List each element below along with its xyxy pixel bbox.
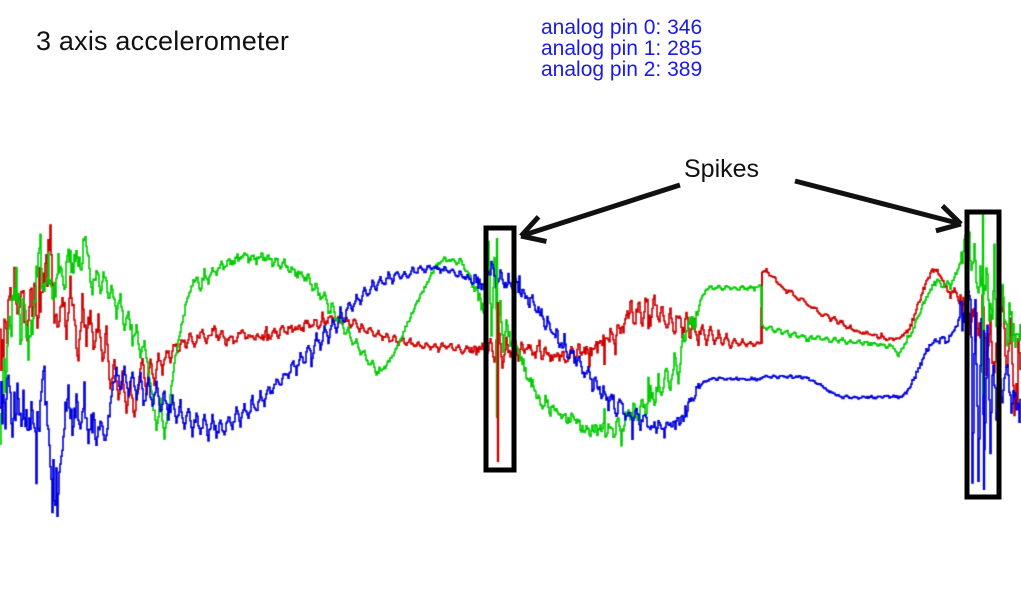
spikes-annotation-label: Spikes <box>684 155 759 184</box>
accelerometer-plot-window: 3 axis accelerometer analog pin 0: 346 a… <box>0 0 1021 596</box>
accelerometer-trace-canvas <box>0 0 1021 596</box>
